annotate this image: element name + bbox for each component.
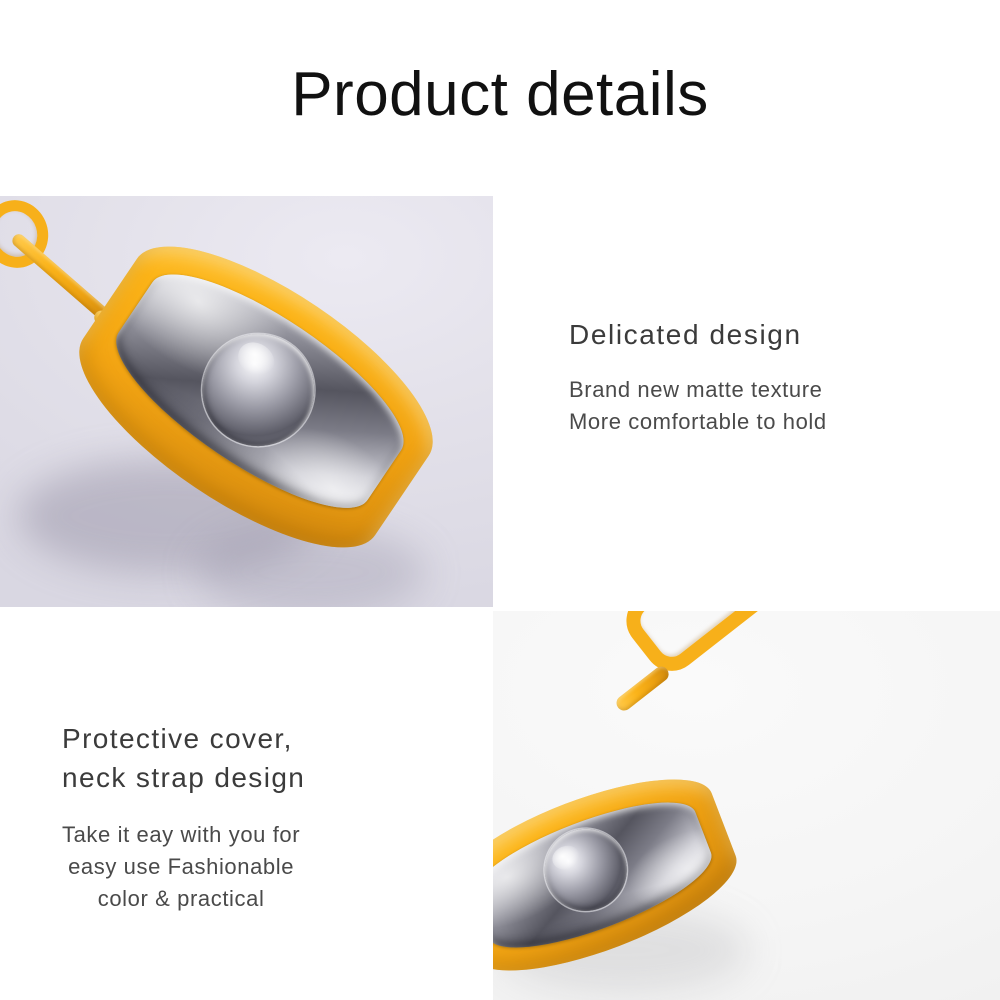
section-protective-cover: Protective cover, neck strap design Take…	[62, 719, 328, 915]
section-body-delicated-design: Brand new matte texture More comfortable…	[569, 374, 827, 438]
section-heading-protective-cover-line2: neck strap design	[62, 758, 328, 797]
strap-connector	[614, 664, 672, 714]
product-details-page: Product details Delicated design Brand n…	[0, 0, 1000, 1000]
body-line: Take it eay with you for	[62, 819, 300, 851]
section-heading-protective-cover-line1: Protective cover,	[62, 719, 328, 758]
page-title: Product details	[0, 56, 1000, 134]
device-body	[493, 754, 751, 997]
body-line: color & practical	[62, 883, 300, 915]
body-line: Brand new matte texture	[569, 374, 827, 406]
section-heading-delicated-design: Delicated design	[569, 316, 827, 354]
product-photo-with-strap[interactable]	[493, 611, 1000, 1000]
body-line: easy use Fashionable	[62, 851, 300, 883]
product-photo-closeup[interactable]	[0, 196, 493, 607]
section-body-protective-cover: Take it eay with you for easy use Fashio…	[62, 819, 328, 915]
body-line: More comfortable to hold	[569, 406, 827, 438]
device-body	[49, 208, 463, 586]
section-delicated-design: Delicated design Brand new matte texture…	[569, 316, 827, 438]
